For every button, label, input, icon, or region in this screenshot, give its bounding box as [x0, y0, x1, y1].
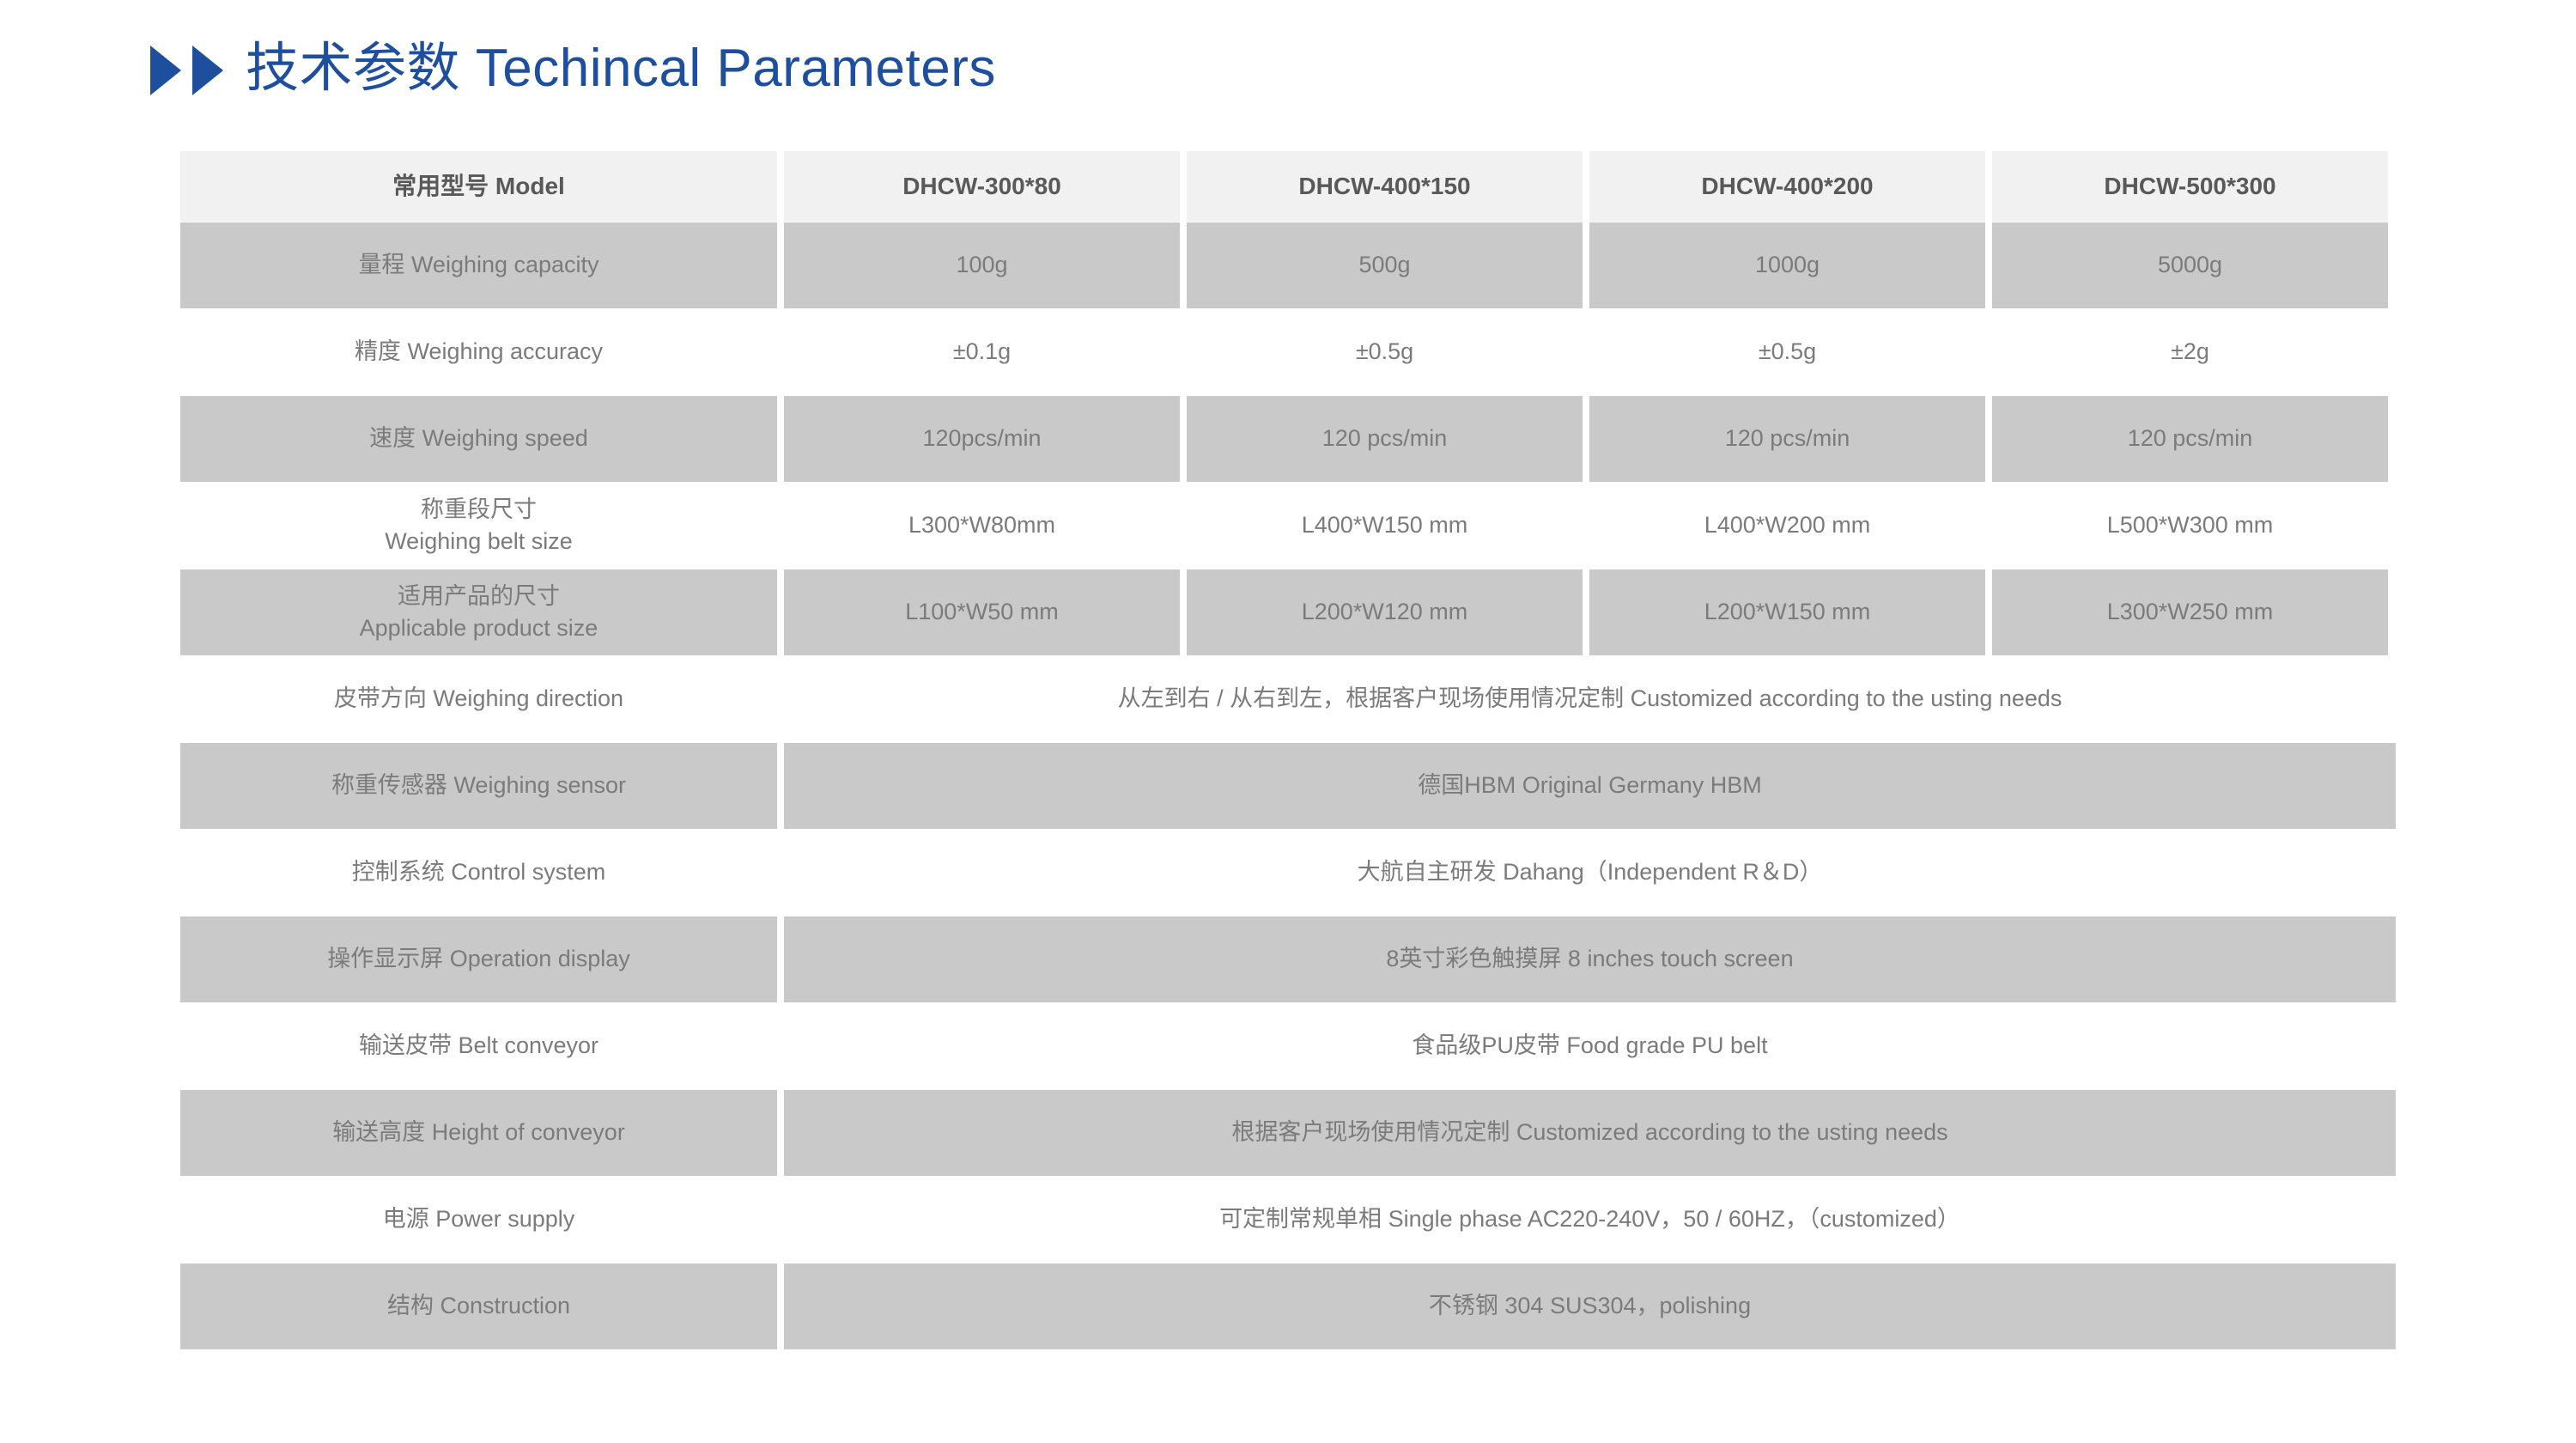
- table-row: 操作显示屏 Operation display8英寸彩色触摸屏 8 inches…: [180, 916, 2396, 1002]
- row-merged-value: 德国HBM Original Germany HBM: [784, 743, 2396, 829]
- technical-parameters-page: 技术参数 Techincal Parameters 常用型号 ModelDHCW…: [0, 0, 2576, 1443]
- row-label: 操作显示屏 Operation display: [180, 916, 777, 1002]
- table-row: 输送皮带 Belt conveyor食品级PU皮带 Food grade PU …: [180, 1003, 2396, 1089]
- table-header-row: 常用型号 ModelDHCW-300*80DHCW-400*150DHCW-40…: [180, 151, 2396, 222]
- table-row: 称重段尺寸 Weighing belt sizeL300*W80mmL400*W…: [180, 483, 2396, 569]
- table-row: 量程 Weighing capacity100g500g1000g5000g: [180, 222, 2396, 308]
- table-row: 结构 Construction不锈钢 304 SUS304，polishing: [180, 1263, 2396, 1349]
- row-value: 100g: [784, 222, 1180, 308]
- row-value: L300*W80mm: [784, 483, 1180, 569]
- row-value: L400*W200 mm: [1589, 483, 1985, 569]
- row-value: L300*W250 mm: [1992, 569, 2388, 655]
- row-label: 电源 Power supply: [180, 1177, 777, 1263]
- row-value: L200*W150 mm: [1589, 569, 1985, 655]
- row-value: 120 pcs/min: [1992, 396, 2388, 482]
- row-label: 精度 Weighing accuracy: [180, 309, 777, 395]
- row-merged-value: 可定制常规单相 Single phase AC220-240V，50 / 60H…: [784, 1177, 2396, 1263]
- row-value: 500g: [1187, 222, 1583, 308]
- row-value: ±2g: [1992, 309, 2388, 395]
- row-value: L100*W50 mm: [784, 569, 1180, 655]
- row-value: 120 pcs/min: [1187, 396, 1583, 482]
- row-merged-value: 从左到右 / 从右到左，根据客户现场使用情况定制 Customized acco…: [784, 656, 2396, 742]
- row-value: L200*W120 mm: [1187, 569, 1583, 655]
- table-row: 控制系统 Control system大航自主研发 Dahang（Indepen…: [180, 830, 2396, 916]
- table-header-model-1: DHCW-300*80: [784, 151, 1180, 222]
- table-header-model-4: DHCW-500*300: [1992, 151, 2388, 222]
- row-merged-value: 食品级PU皮带 Food grade PU belt: [784, 1003, 2396, 1089]
- table-row: 称重传感器 Weighing sensor德国HBM Original Germ…: [180, 743, 2396, 829]
- table-row: 电源 Power supply可定制常规单相 Single phase AC22…: [180, 1177, 2396, 1263]
- row-value: 1000g: [1589, 222, 1985, 308]
- row-value: L500*W300 mm: [1992, 483, 2388, 569]
- row-merged-value: 不锈钢 304 SUS304，polishing: [784, 1263, 2396, 1349]
- table-header-model-2: DHCW-400*150: [1187, 151, 1583, 222]
- row-merged-value: 大航自主研发 Dahang（Independent R＆D）: [784, 830, 2396, 916]
- row-merged-value: 根据客户现场使用情况定制 Customized according to the…: [784, 1090, 2396, 1176]
- page-title-bar: 技术参数 Techincal Parameters: [150, 26, 996, 112]
- table-row: 适用产品的尺寸 Applicable product sizeL100*W50 …: [180, 569, 2396, 655]
- row-value: ±0.5g: [1589, 309, 1985, 395]
- table-row: 精度 Weighing accuracy±0.1g±0.5g±0.5g±2g: [180, 309, 2396, 395]
- row-label: 输送皮带 Belt conveyor: [180, 1003, 777, 1089]
- title-arrow-group: [150, 46, 223, 95]
- page-title: 技术参数 Techincal Parameters: [246, 42, 996, 95]
- table-row: 皮带方向 Weighing direction从左到右 / 从右到左，根据客户现…: [180, 656, 2396, 742]
- technical-parameters-table: 常用型号 ModelDHCW-300*80DHCW-400*150DHCW-40…: [180, 151, 2396, 1350]
- row-value: 120 pcs/min: [1589, 396, 1985, 482]
- triangle-right-icon: [150, 46, 181, 95]
- row-value: ±0.1g: [784, 309, 1180, 395]
- table-header-label: 常用型号 Model: [180, 151, 777, 222]
- row-label: 速度 Weighing speed: [180, 396, 777, 482]
- row-label: 皮带方向 Weighing direction: [180, 656, 777, 742]
- table-header-model-3: DHCW-400*200: [1589, 151, 1985, 222]
- triangle-right-icon: [192, 46, 223, 95]
- row-label: 称重传感器 Weighing sensor: [180, 743, 777, 829]
- row-label: 量程 Weighing capacity: [180, 222, 777, 308]
- table-row: 输送高度 Height of conveyor根据客户现场使用情况定制 Cust…: [180, 1090, 2396, 1176]
- row-value: 5000g: [1992, 222, 2388, 308]
- row-label: 称重段尺寸 Weighing belt size: [180, 483, 777, 569]
- row-label: 适用产品的尺寸 Applicable product size: [180, 569, 777, 655]
- row-value: ±0.5g: [1187, 309, 1583, 395]
- row-value: L400*W150 mm: [1187, 483, 1583, 569]
- row-merged-value: 8英寸彩色触摸屏 8 inches touch screen: [784, 916, 2396, 1002]
- row-label: 控制系统 Control system: [180, 830, 777, 916]
- row-label: 结构 Construction: [180, 1263, 777, 1349]
- row-label: 输送高度 Height of conveyor: [180, 1090, 777, 1176]
- table-row: 速度 Weighing speed120pcs/min120 pcs/min12…: [180, 396, 2396, 482]
- row-value: 120pcs/min: [784, 396, 1180, 482]
